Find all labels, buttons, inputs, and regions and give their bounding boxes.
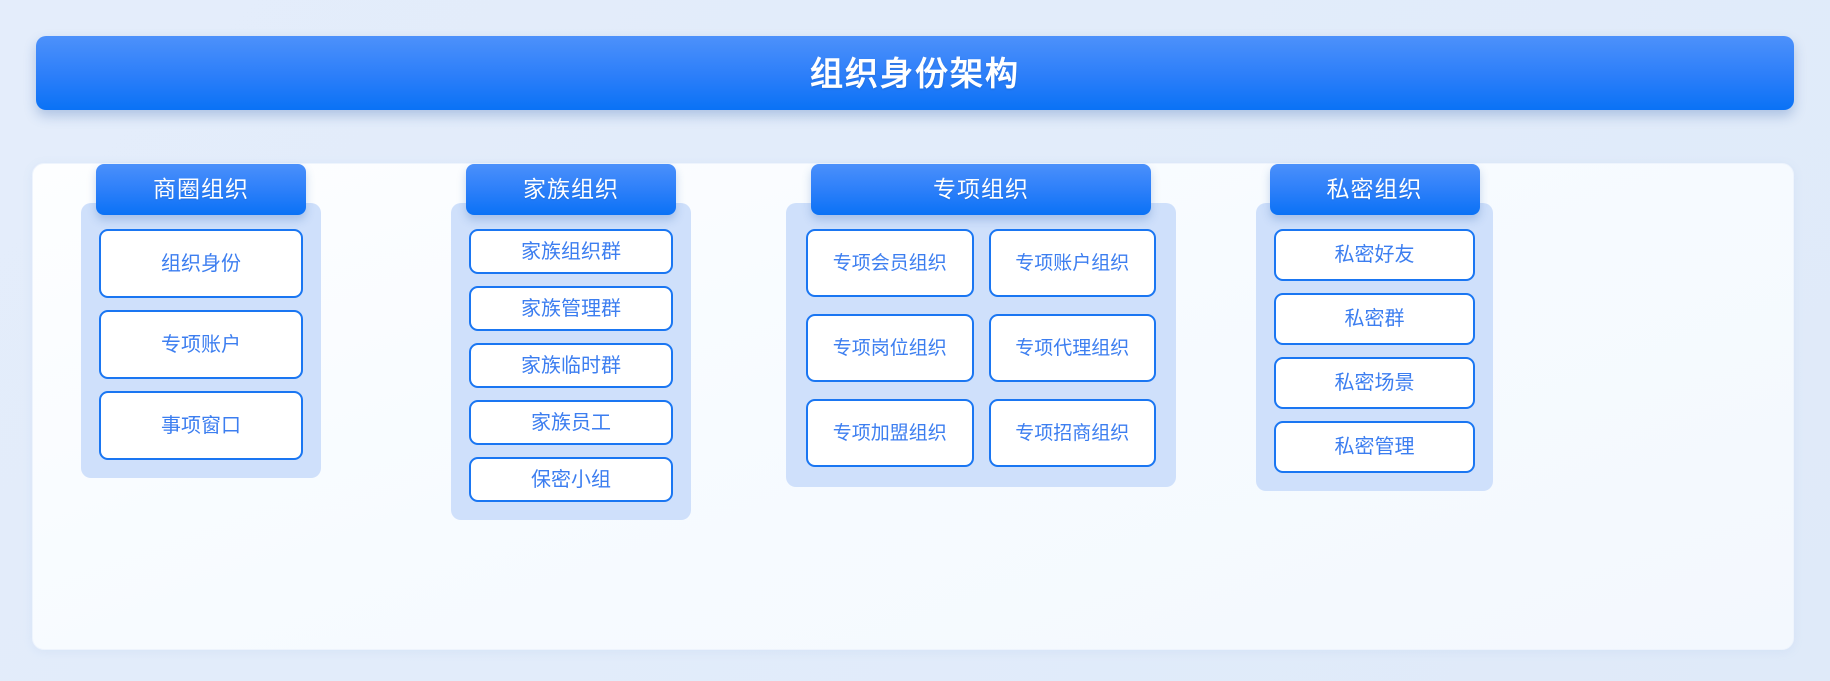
org-item[interactable]: 家族临时群 <box>469 343 673 388</box>
card-header-title: 专项组织 <box>933 178 1029 201</box>
org-item[interactable]: 家族管理群 <box>469 286 673 331</box>
org-item[interactable]: 专项加盟组织 <box>806 399 974 467</box>
card-header[interactable]: 私密组织 <box>1270 164 1480 215</box>
card-header-title: 私密组织 <box>1327 178 1423 201</box>
organization-columns: 商圈组织组织身份专项账户事项窗口家族组织家族组织群家族管理群家族临时群家族员工保… <box>33 164 1793 649</box>
org-item[interactable]: 私密场景 <box>1274 357 1475 409</box>
card-body: 组织身份专项账户事项窗口 <box>81 203 321 478</box>
card-body: 家族组织群家族管理群家族临时群家族员工保密小组 <box>451 203 691 520</box>
card-header[interactable]: 专项组织 <box>811 164 1151 215</box>
card-header[interactable]: 商圈组织 <box>96 164 306 215</box>
page-title: 组织身份架构 <box>810 57 1020 90</box>
card-header[interactable]: 家族组织 <box>466 164 676 215</box>
org-item[interactable]: 专项岗位组织 <box>806 314 974 382</box>
org-structure-page: 组织身份架构 商圈组织组织身份专项账户事项窗口家族组织家族组织群家族管理群家族临… <box>0 0 1830 681</box>
org-item[interactable]: 私密群 <box>1274 293 1475 345</box>
card-header-title: 家族组织 <box>523 178 619 201</box>
org-item[interactable]: 事项窗口 <box>99 391 303 460</box>
org-column: 家族组织家族组织群家族管理群家族临时群家族员工保密小组 <box>451 164 691 520</box>
org-item[interactable]: 私密好友 <box>1274 229 1475 281</box>
org-item[interactable]: 保密小组 <box>469 457 673 502</box>
org-item[interactable]: 家族员工 <box>469 400 673 445</box>
content-panel: 商圈组织组织身份专项账户事项窗口家族组织家族组织群家族管理群家族临时群家族员工保… <box>32 163 1794 650</box>
org-item[interactable]: 私密管理 <box>1274 421 1475 473</box>
org-item[interactable]: 专项账户组织 <box>989 229 1157 297</box>
org-item[interactable]: 专项代理组织 <box>989 314 1157 382</box>
page-title-banner: 组织身份架构 <box>36 36 1794 110</box>
org-column: 专项组织专项会员组织专项账户组织专项岗位组织专项代理组织专项加盟组织专项招商组织 <box>786 164 1176 487</box>
org-column: 商圈组织组织身份专项账户事项窗口 <box>81 164 321 478</box>
org-item[interactable]: 组织身份 <box>99 229 303 298</box>
card-body: 专项会员组织专项账户组织专项岗位组织专项代理组织专项加盟组织专项招商组织 <box>786 203 1176 487</box>
card-body: 私密好友私密群私密场景私密管理 <box>1256 203 1493 491</box>
card-header-title: 商圈组织 <box>153 178 249 201</box>
org-item[interactable]: 专项招商组织 <box>989 399 1157 467</box>
org-item[interactable]: 专项账户 <box>99 310 303 379</box>
org-item[interactable]: 专项会员组织 <box>806 229 974 297</box>
org-column: 私密组织私密好友私密群私密场景私密管理 <box>1256 164 1493 491</box>
org-item[interactable]: 家族组织群 <box>469 229 673 274</box>
